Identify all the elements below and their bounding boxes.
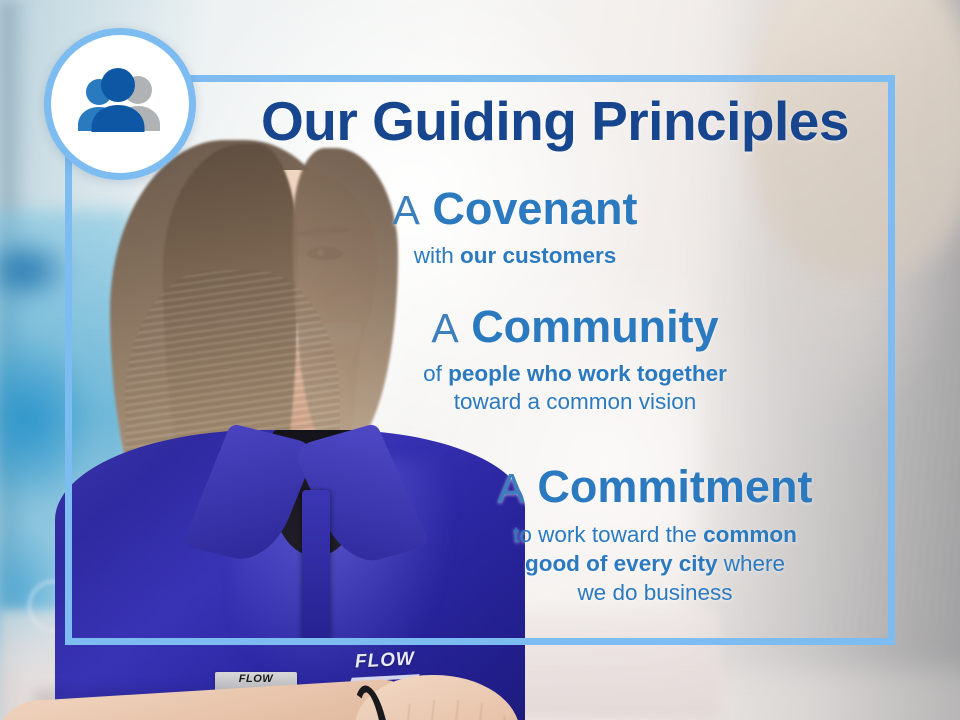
principle-covenant-lead: A	[393, 187, 420, 233]
principle-covenant-sub-reg: with	[414, 243, 460, 268]
principle-community-sub-line2: toward a common vision	[365, 388, 785, 416]
principle-community-title: A Community	[365, 303, 785, 351]
principle-commitment-sub-line1: to work toward the common	[430, 520, 880, 549]
page-title: Our Guiding Principles	[205, 94, 905, 149]
principle-covenant-main: Covenant	[432, 183, 637, 234]
principle-community-sub-line1-bold: people who work together	[448, 361, 727, 386]
principle-commitment: A Commitment to work toward the common g…	[430, 463, 880, 607]
principle-commitment-sub-line2-reg: where	[718, 551, 786, 576]
principle-community: A Community of people who work together …	[365, 303, 785, 416]
principle-community-sub-line1-reg: of	[423, 361, 448, 386]
principle-commitment-sub-line2: good of every city where	[430, 549, 880, 578]
principle-community-sub-line1: of people who work together	[365, 360, 785, 388]
principle-commitment-title: A Commitment	[430, 463, 880, 511]
people-group-badge	[44, 28, 196, 180]
principle-covenant-subtext: with our customers	[305, 242, 725, 270]
principle-covenant-sub-bold: our customers	[460, 243, 616, 268]
principle-commitment-sub-line1-bold: common	[703, 522, 797, 547]
principle-commitment-sub-line1-reg: to work toward the	[513, 522, 703, 547]
principle-commitment-lead: A	[498, 465, 525, 511]
people-group-icon	[72, 68, 168, 140]
polo-chest-logo: FLOW	[354, 648, 415, 673]
principle-covenant-title: A Covenant	[305, 185, 725, 233]
principle-covenant: A Covenant with our customers	[305, 185, 725, 270]
principle-commitment-main: Commitment	[537, 461, 812, 512]
principle-community-lead: A	[431, 305, 458, 351]
principle-commitment-sub-line3: we do business	[430, 578, 880, 607]
principle-community-main: Community	[471, 301, 719, 352]
poster-canvas: FLOW Automotive FLOW Ou	[0, 0, 960, 720]
principle-commitment-subtext: to work toward the common good of every …	[430, 520, 880, 608]
principle-commitment-sub-line2-bold: good of every city	[525, 551, 718, 576]
principle-community-subtext: of people who work together toward a com…	[365, 360, 785, 417]
associate-shirt-placket	[302, 490, 330, 640]
